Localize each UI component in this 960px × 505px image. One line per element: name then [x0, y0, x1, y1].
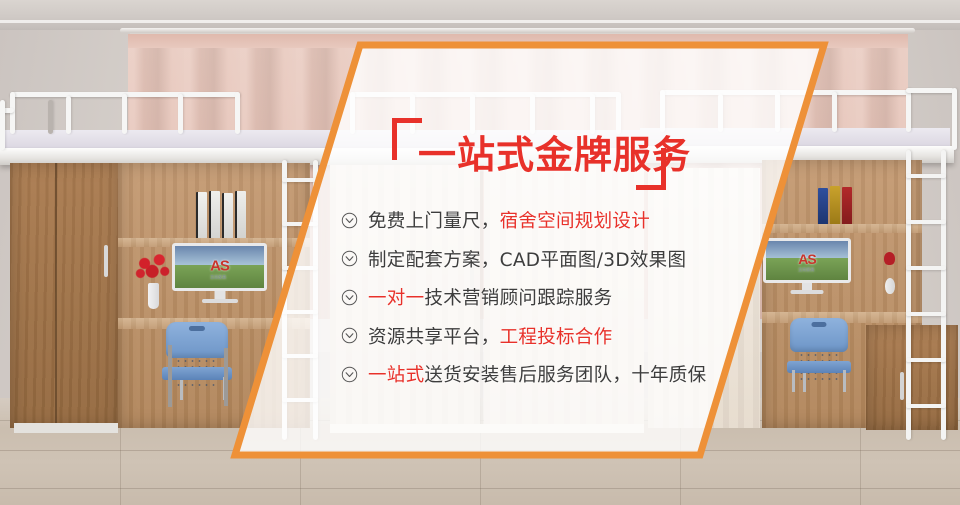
segment-highlight: 宿舍空间规划设计: [500, 211, 650, 232]
list-item-label: 一站式送货安装售后服务团队，十年质保: [368, 361, 706, 387]
list-item-label: 资源共享平台，工程投标合作: [368, 323, 612, 349]
banner-content: 一站式金牌服务 免费上门量尺，宿舍空间规划设计: [0, 0, 960, 505]
segment-highlight: 工程投标合作: [500, 327, 613, 348]
circle-chevron-down-icon: [341, 250, 358, 267]
segment-plain: 免费上门量尺，: [368, 211, 500, 232]
headline-block: 一站式金牌服务: [392, 118, 682, 184]
list-item: 资源共享平台，工程投标合作: [341, 319, 761, 353]
list-item: 一站式送货安装售后服务团队，十年质保: [341, 357, 761, 391]
list-item-label: 免费上门量尺，宿舍空间规划设计: [368, 207, 650, 233]
segment-plain: 技术营销顾问跟踪服务: [424, 288, 612, 309]
segment-plain: 送货安装售后服务团队，十年质保: [424, 365, 706, 386]
circle-chevron-down-icon: [341, 289, 358, 306]
list-item: 制定配套方案，CAD平面图/3D效果图: [341, 242, 761, 276]
list-item-label: 制定配套方案，CAD平面图/3D效果图: [368, 246, 686, 272]
circle-chevron-down-icon: [341, 366, 358, 383]
service-feature-list: 免费上门量尺，宿舍空间规划设计 制定配套方案，CAD平面图/3D效果图: [341, 203, 761, 396]
list-item-label: 一对一技术营销顾问跟踪服务: [368, 284, 612, 310]
bracket-bottom-right-icon: [636, 148, 666, 190]
banner-stage: AS 艾尚家具: [0, 0, 960, 505]
circle-chevron-down-icon: [341, 212, 358, 229]
segment-highlight: 一站式: [368, 365, 424, 386]
list-item: 一对一技术营销顾问跟踪服务: [341, 280, 761, 314]
segment-plain: 资源共享平台，: [368, 327, 500, 348]
segment-plain: 制定配套方案，CAD平面图/3D效果图: [368, 250, 686, 271]
list-item: 免费上门量尺，宿舍空间规划设计: [341, 203, 761, 237]
circle-chevron-down-icon: [341, 327, 358, 344]
segment-highlight: 一对一: [368, 288, 424, 309]
